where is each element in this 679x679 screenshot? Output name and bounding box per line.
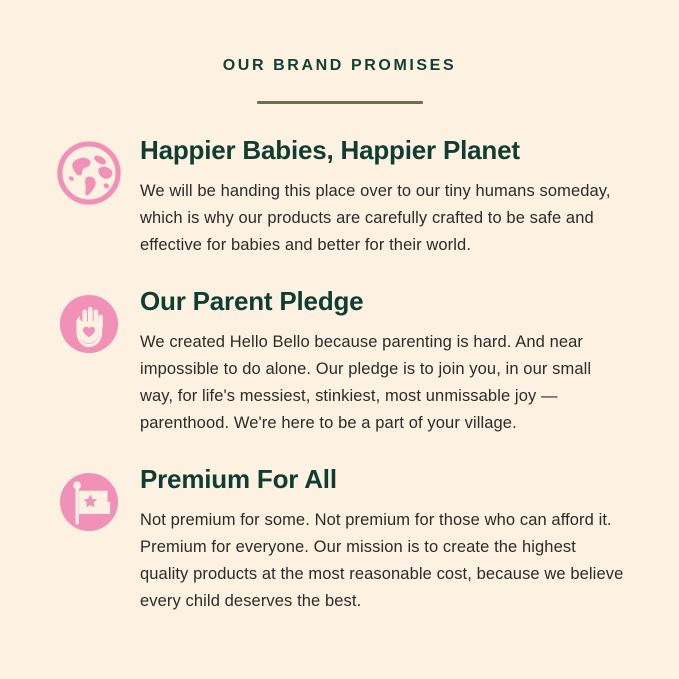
promise-item: Premium For All Not premium for some. No…: [0, 463, 679, 615]
flag-star-icon: [56, 469, 122, 535]
promises-list: Happier Babies, Happier Planet We will b…: [0, 134, 679, 615]
divider-container: [0, 101, 679, 104]
globe-icon: [56, 140, 122, 206]
promise-heading: Our Parent Pledge: [140, 287, 631, 317]
promise-description: We created Hello Bello because parenting…: [140, 329, 627, 437]
hand-heart-icon: [56, 291, 122, 357]
promise-heading: Happier Babies, Happier Planet: [140, 136, 631, 166]
promise-content: Premium For All Not premium for some. No…: [140, 463, 631, 615]
page-header: OUR BRAND PROMISES: [0, 0, 679, 104]
promise-item: Happier Babies, Happier Planet We will b…: [0, 134, 679, 259]
promise-item: Our Parent Pledge We created Hello Bello…: [0, 285, 679, 437]
horizontal-rule-divider: [257, 101, 423, 104]
promise-content: Our Parent Pledge We created Hello Bello…: [140, 285, 631, 437]
brand-promises-page: OUR BRAND PROMISES: [0, 0, 679, 679]
promise-heading: Premium For All: [140, 465, 631, 495]
promise-content: Happier Babies, Happier Planet We will b…: [140, 134, 631, 259]
promise-description: We will be handing this place over to ou…: [140, 178, 627, 259]
page-title: OUR BRAND PROMISES: [0, 56, 679, 75]
promise-description: Not premium for some. Not premium for th…: [140, 507, 627, 615]
